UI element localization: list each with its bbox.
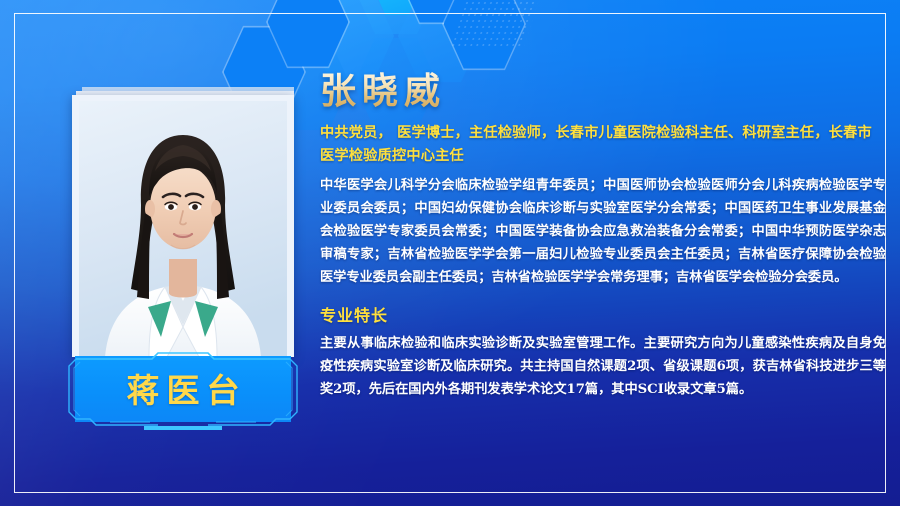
slide-canvas: 蒋医台 张晓威 中共党员， 医学博士，主任检验师，长春市儿童医院检验科主任、科研… [0, 0, 900, 506]
hexagon-shape [354, 0, 438, 36]
profile-subtitle: 中共党员， 医学博士，主任检验师，长春市儿童医院检验科主任、科研室主任，长春市医… [320, 122, 886, 168]
nameplate-label: 蒋医台 [75, 364, 291, 412]
profile-specialty: 主要从事临床检验和临床实验诊断及实验室管理工作。主要研究方向为儿童感染性疾病及自… [320, 333, 886, 401]
portrait-illustration [79, 101, 287, 357]
nameplate-panel: 蒋医台 [75, 356, 291, 422]
profile-content: 张晓威 中共党员， 医学博士，主任检验师，长春市儿童医院检验科主任、科研室主任，… [320, 72, 886, 402]
hexagon-shape-bright [374, 0, 420, 16]
dot-grid-texture [449, 0, 548, 48]
hexagon-outline [398, 0, 482, 26]
page-title: 张晓威 [320, 72, 886, 112]
portrait-photo [79, 101, 287, 357]
hexagon-outline [442, 0, 526, 72]
portrait-photo-card [72, 95, 294, 357]
hexagon-outline [266, 0, 350, 70]
photo-frame [72, 95, 294, 357]
nameplate: 蒋医台 [66, 352, 300, 432]
specialty-heading: 专业特长 [320, 302, 886, 326]
profile-affiliations: 中华医学会儿科学分会临床检验学组青年委员；中国医师协会检验医师分会儿科疾病检验医… [320, 175, 886, 289]
